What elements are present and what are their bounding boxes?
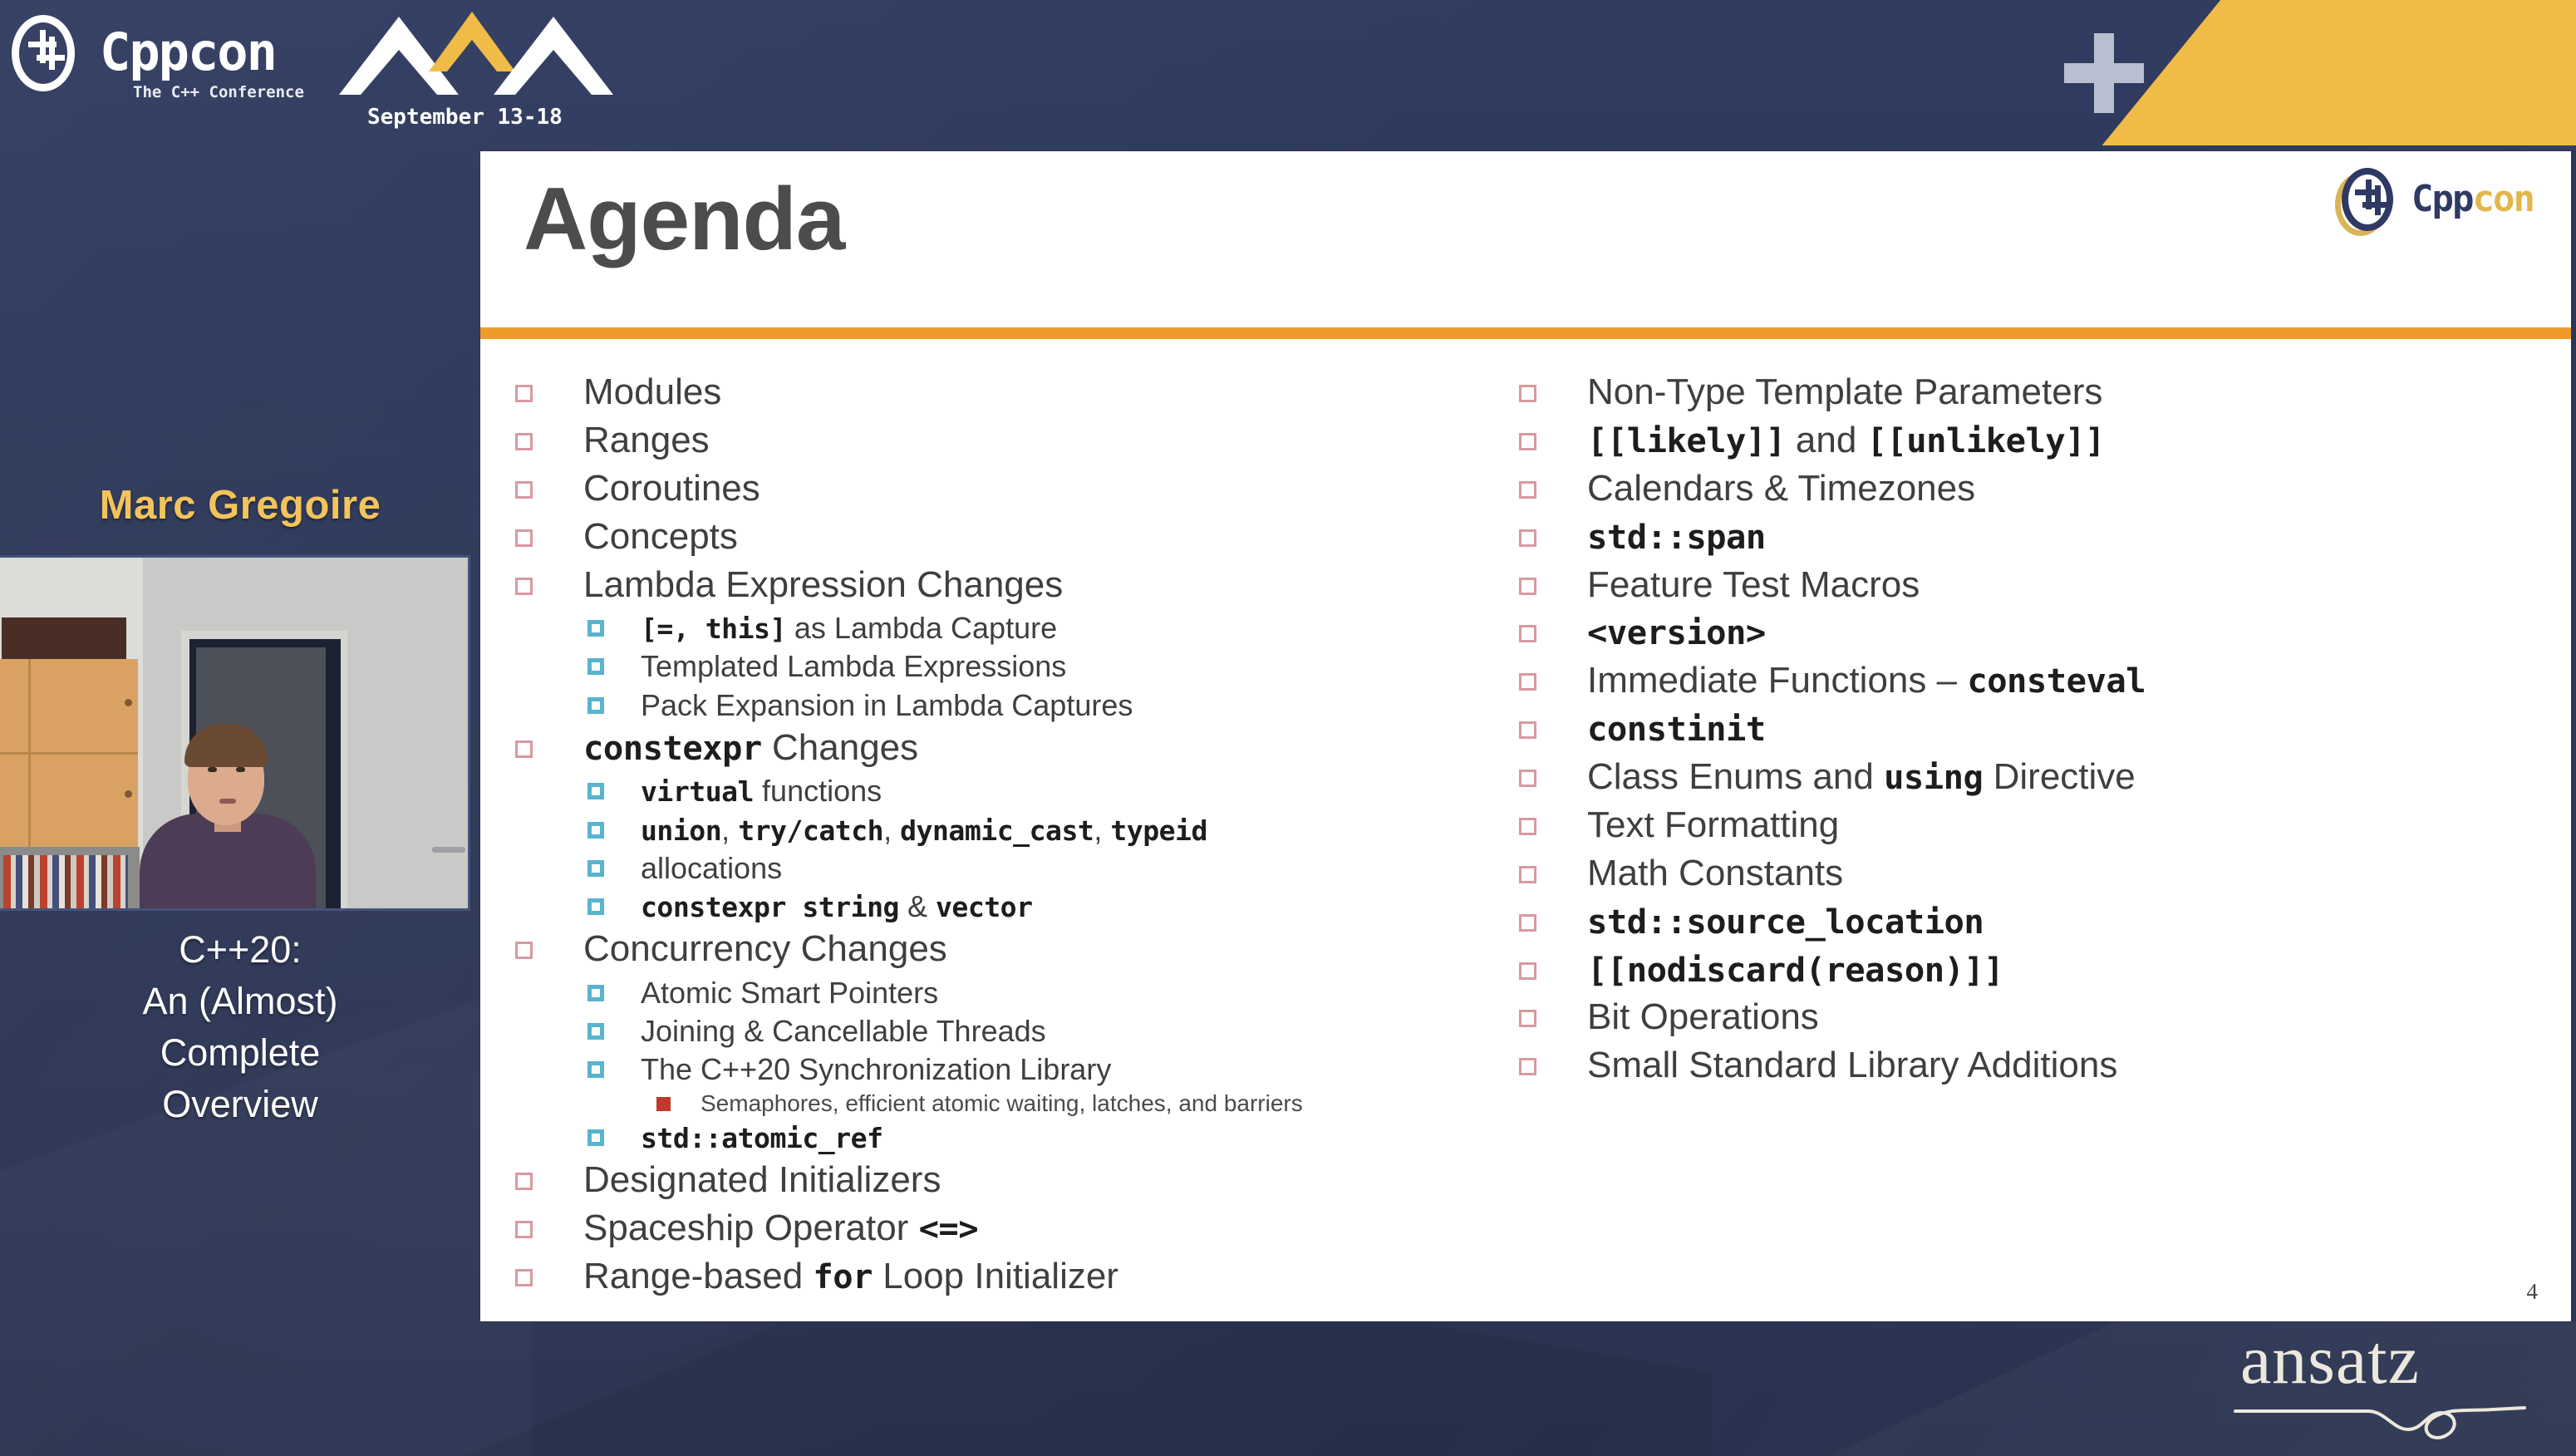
text-fragment: Spaceship Operator (583, 1208, 919, 1248)
agenda-item-label: constinit (1587, 706, 1766, 752)
agenda-item[interactable]: The C++20 Synchronization Library (515, 1050, 1537, 1089)
text-fragment: allocations (641, 851, 782, 885)
cppcon-plus-glyph-icon (23, 30, 65, 76)
code-fragment: typeid (1110, 814, 1207, 847)
agenda-item[interactable]: Designated Initializers (515, 1157, 1537, 1203)
logo-word-gold: con (2472, 178, 2533, 220)
bullet-square-blue-icon (587, 1129, 604, 1146)
text-fragment: & (899, 889, 936, 923)
agenda-item[interactable]: Templated Lambda Expressions (515, 647, 1537, 686)
title-divider (480, 327, 2571, 339)
agenda-item[interactable]: std::atomic_ref (515, 1119, 1537, 1157)
text-fragment: Pack Expansion in Lambda Captures (641, 688, 1133, 722)
cppcon-plus-glyph-icon (2352, 180, 2388, 221)
agenda-item-label: Concurrency Changes (583, 926, 947, 972)
agenda-item-label: [=, this] as Lambda Capture (641, 609, 1057, 647)
logo-word-dark: Cpp (2411, 178, 2472, 220)
bullet-square-pink-icon (1519, 625, 1536, 642)
code-fragment: [=, this] (641, 612, 786, 645)
agenda-item[interactable]: Joining & Cancellable Threads (515, 1012, 1537, 1050)
agenda-item-label: Spaceship Operator <=> (583, 1205, 978, 1252)
agenda-item[interactable]: Class Enums and using Directive (1519, 754, 2541, 800)
agenda-item-label: The C++20 Synchronization Library (641, 1050, 1111, 1089)
text-fragment: Loop Initializer (873, 1256, 1118, 1296)
code-fragment: using (1884, 757, 1983, 797)
agenda-item-label: Class Enums and using Directive (1587, 754, 2136, 800)
code-fragment: consteval (1967, 661, 2146, 701)
code-fragment: std::span (1587, 517, 1766, 557)
agenda-item[interactable]: Calendars & Timezones (1519, 465, 2541, 512)
code-fragment: [[likely]] (1587, 421, 1786, 460)
bullet-square-pink-icon (1519, 385, 1536, 402)
bullet-square-pink-icon (1519, 481, 1536, 499)
code-fragment: <=> (919, 1208, 979, 1248)
code-fragment: std::source_location (1587, 902, 1984, 942)
agenda-item-label: virtual functions (641, 772, 882, 810)
agenda-item[interactable]: Concurrency Changes (515, 926, 1537, 972)
bullet-square-pink-icon (1519, 1010, 1536, 1027)
cppcon-header: Cppcon The C++ Conference September 13-1… (0, 0, 2576, 150)
agenda-item[interactable]: Coroutines (515, 465, 1537, 512)
text-fragment: , (721, 813, 738, 847)
bullet-square-pink-icon (515, 1269, 533, 1286)
text-fragment: , (1094, 813, 1110, 847)
text-fragment: Directive (1983, 756, 2135, 797)
text-fragment: Non-Type Template Parameters (1587, 371, 2102, 412)
slide-canvas: Agenda Cppcon ModulesRangesCoroutinesCon… (480, 151, 2576, 1321)
bullet-square-pink-icon (1519, 770, 1536, 787)
ansatz-sponsor-logo: ansatz (2219, 1316, 2543, 1441)
agenda-item[interactable]: std::span (1519, 514, 2541, 560)
text-fragment: Class Enums and (1587, 756, 1884, 797)
bullet-square-pink-icon (515, 578, 533, 595)
agenda-item-label: Lambda Expression Changes (583, 562, 1063, 608)
agenda-item-label: constexpr string & vector (641, 888, 1033, 926)
agenda-item-label: Semaphores, efficient atomic waiting, la… (701, 1089, 1303, 1119)
text-fragment: Semaphores, efficient atomic waiting, la… (701, 1090, 1303, 1116)
page-number: 4 (2527, 1279, 2539, 1305)
bullet-square-pink-icon (1519, 673, 1536, 691)
bullet-square-pink-icon (515, 1221, 533, 1238)
agenda-item-label: Designated Initializers (583, 1157, 941, 1203)
text-fragment: Atomic Smart Pointers (641, 976, 938, 1010)
bullet-square-blue-icon (587, 1061, 604, 1078)
bullet-square-pink-icon (515, 740, 533, 758)
code-fragment: union (641, 814, 721, 847)
ansatz-wordmark: ansatz (2240, 1320, 2420, 1400)
agenda-item-label: Concepts (583, 514, 738, 560)
agenda-item-label: [[nodiscard(reason)]] (1587, 947, 2003, 993)
text-fragment: Ranges (583, 420, 710, 460)
bullet-square-pink-icon (1519, 914, 1536, 932)
bullet-square-pink-icon (1519, 962, 1536, 980)
talk-title: C++20:An (Almost)CompleteOverview (0, 924, 480, 1130)
agenda-item-label: Pack Expansion in Lambda Captures (641, 686, 1133, 725)
agenda-item-label: Text Formatting (1587, 802, 1839, 849)
text-fragment: Text Formatting (1587, 804, 1839, 845)
bullet-square-pink-icon (1519, 1058, 1536, 1075)
bullet-square-blue-icon (587, 697, 604, 714)
agenda-column-left: ModulesRangesCoroutinesConceptsLambda Ex… (515, 369, 1537, 1301)
bullet-square-blue-icon (587, 898, 604, 915)
agenda-item[interactable]: Atomic Smart Pointers (515, 974, 1537, 1012)
agenda-item-label: Ranges (583, 417, 710, 464)
code-fragment: for (813, 1257, 873, 1296)
bullet-square-pink-icon (1519, 866, 1536, 883)
agenda-item[interactable]: constexpr Changes (515, 725, 1537, 771)
agenda-item-label: Bit Operations (1587, 994, 1819, 1040)
agenda-item[interactable]: <version> (1519, 609, 2541, 656)
text-fragment: Joining & Cancellable Threads (641, 1014, 1046, 1048)
text-fragment: Lambda Expression Changes (583, 564, 1063, 605)
agenda-item[interactable]: [[likely]] and [[unlikely]] (1519, 417, 2541, 464)
agenda-item[interactable]: Feature Test Macros (1519, 562, 2541, 608)
text-fragment: and (1786, 420, 1867, 460)
agenda-item[interactable]: allocations (515, 849, 1537, 888)
code-fragment: vector (936, 891, 1033, 923)
text-fragment: Templated Lambda Expressions (641, 649, 1066, 683)
agenda-item[interactable]: [=, this] as Lambda Capture (515, 609, 1537, 647)
bullet-square-blue-icon (587, 860, 604, 877)
agenda-item[interactable]: constexpr string & vector (515, 888, 1537, 926)
bullet-square-pink-icon (515, 433, 533, 450)
code-fragment: try/catch (738, 814, 883, 847)
agenda-item-label: union, try/catch, dynamic_cast, typeid (641, 811, 1207, 849)
talk-title-line: C++20: (0, 924, 480, 976)
conference-dates: September 13-18 (367, 105, 563, 130)
text-fragment: Immediate Functions – (1587, 660, 1967, 701)
bullet-square-pink-icon (1519, 529, 1536, 547)
bullet-square-blue-icon (587, 620, 604, 637)
agenda-item-label: Coroutines (583, 465, 760, 512)
agenda-item[interactable]: constinit (1519, 706, 2541, 752)
bullet-square-blue-icon (587, 822, 604, 839)
mountains-icon (339, 12, 613, 99)
agenda-item[interactable]: Text Formatting (1519, 802, 2541, 849)
text-fragment: Small Standard Library Additions (1587, 1045, 2117, 1085)
talk-title-line: Complete (0, 1027, 480, 1079)
agenda-item-label: Feature Test Macros (1587, 562, 1920, 608)
agenda-item-label: Range-based for Loop Initializer (583, 1253, 1118, 1300)
bullet-square-blue-icon (587, 1023, 604, 1040)
agenda-item[interactable]: Ranges (515, 417, 1537, 464)
agenda-item-label: Atomic Smart Pointers (641, 974, 938, 1012)
plus-icon (2064, 33, 2144, 113)
text-fragment: The C++20 Synchronization Library (641, 1052, 1111, 1086)
code-fragment: constexpr (583, 728, 762, 768)
text-fragment: Math Constants (1587, 853, 1843, 893)
bullet-square-blue-icon (587, 658, 604, 675)
cppcon-slide-logo: Cppcon (2330, 163, 2554, 239)
text-fragment: Changes (762, 727, 918, 768)
agenda-item[interactable]: virtual functions (515, 772, 1537, 810)
agenda-item-label: std::source_location (1587, 898, 1984, 945)
agenda-item-label: constexpr Changes (583, 725, 918, 771)
agenda-item-label: Non-Type Template Parameters (1587, 369, 2102, 416)
bullet-square-pink-icon (515, 385, 533, 402)
agenda-item-label: [[likely]] and [[unlikely]] (1587, 417, 2105, 464)
agenda-item[interactable]: Concepts (515, 514, 1537, 560)
text-fragment: as Lambda Capture (786, 611, 1057, 645)
speaker-name: Marc Gregoire (0, 482, 480, 529)
agenda-item[interactable]: Spaceship Operator <=> (515, 1205, 1537, 1252)
bullet-square-pink-icon (1519, 578, 1536, 595)
speaker-webcam (0, 555, 470, 911)
agenda-item-label: Math Constants (1587, 850, 1843, 897)
code-fragment: constinit (1587, 709, 1766, 749)
text-fragment: , (883, 813, 900, 847)
text-fragment: Bit Operations (1587, 996, 1819, 1037)
agenda-item[interactable]: union, try/catch, dynamic_cast, typeid (515, 811, 1537, 849)
talk-title-line: An (Almost) (0, 976, 480, 1027)
agenda-item[interactable]: Non-Type Template Parameters (1519, 369, 2541, 416)
text-fragment: Coroutines (583, 468, 760, 509)
agenda-item[interactable]: Small Standard Library Additions (1519, 1042, 2541, 1089)
agenda-item-label: Templated Lambda Expressions (641, 647, 1066, 686)
agenda-item[interactable]: Modules (515, 369, 1537, 416)
text-fragment: Concurrency Changes (583, 928, 947, 969)
code-fragment: std::atomic_ref (641, 1122, 883, 1154)
text-fragment: Designated Initializers (583, 1159, 941, 1200)
agenda-item-label: std::span (1587, 514, 1766, 560)
agenda-item[interactable]: Pack Expansion in Lambda Captures (515, 686, 1537, 725)
bullet-square-blue-icon (587, 985, 604, 1001)
code-fragment: [[nodiscard(reason)]] (1587, 950, 2003, 990)
agenda-item[interactable]: Bit Operations (1519, 994, 2541, 1040)
bullet-square-pink-icon (515, 942, 533, 959)
agenda-item-label: <version> (1587, 609, 1766, 656)
bullet-square-pink-icon (1519, 433, 1536, 450)
text-fragment: Feature Test Macros (1587, 564, 1920, 605)
bullet-square-pink-icon (515, 481, 533, 499)
agenda-item-label: Immediate Functions – consteval (1587, 657, 2146, 704)
agenda-item-label: allocations (641, 849, 782, 888)
text-fragment: Range-based (583, 1256, 813, 1296)
agenda-column-right: Non-Type Template Parameters[[likely]] a… (1519, 369, 2541, 1090)
agenda-item[interactable]: Immediate Functions – consteval (1519, 657, 2541, 704)
agenda-item-label: Calendars & Timezones (1587, 465, 1975, 512)
ansatz-swoosh-icon (2219, 1396, 2543, 1446)
talk-title-line: Overview (0, 1079, 480, 1130)
agenda-item-label: std::atomic_ref (641, 1119, 883, 1157)
code-fragment: dynamic_cast (900, 814, 1094, 847)
bullet-square-pink-icon (1519, 818, 1536, 835)
code-fragment: constexpr string (641, 891, 899, 923)
text-fragment: Calendars & Timezones (1587, 468, 1975, 509)
agenda-item-label: Joining & Cancellable Threads (641, 1012, 1046, 1050)
text-fragment: functions (754, 774, 882, 808)
bullet-square-blue-icon (587, 783, 604, 799)
bullet-square-pink-icon (1519, 721, 1536, 739)
code-fragment: virtual (641, 775, 754, 808)
agenda-item[interactable]: Lambda Expression Changes (515, 562, 1537, 608)
cppcon-tagline: The C++ Conference (133, 83, 304, 101)
agenda-item[interactable]: Semaphores, efficient atomic waiting, la… (515, 1089, 1537, 1119)
agenda-item[interactable]: Math Constants (1519, 850, 2541, 897)
text-fragment: Concepts (583, 516, 738, 557)
agenda-item[interactable]: std::source_location (1519, 898, 2541, 945)
bullet-square-red-icon (656, 1097, 671, 1111)
bullet-square-pink-icon (515, 1173, 533, 1190)
agenda-item-label: Modules (583, 369, 721, 416)
text-fragment: Modules (583, 371, 721, 412)
code-fragment: [[unlikely]] (1867, 421, 2105, 460)
agenda-item[interactable]: [[nodiscard(reason)]] (1519, 947, 2541, 993)
cppcon-wordmark: Cppcon (100, 22, 276, 82)
agenda-item-label: Small Standard Library Additions (1587, 1042, 2117, 1089)
bullet-square-pink-icon (515, 529, 533, 547)
code-fragment: <version> (1587, 612, 1766, 652)
agenda-item[interactable]: Range-based for Loop Initializer (515, 1253, 1537, 1300)
page-title: Agenda (524, 175, 844, 263)
